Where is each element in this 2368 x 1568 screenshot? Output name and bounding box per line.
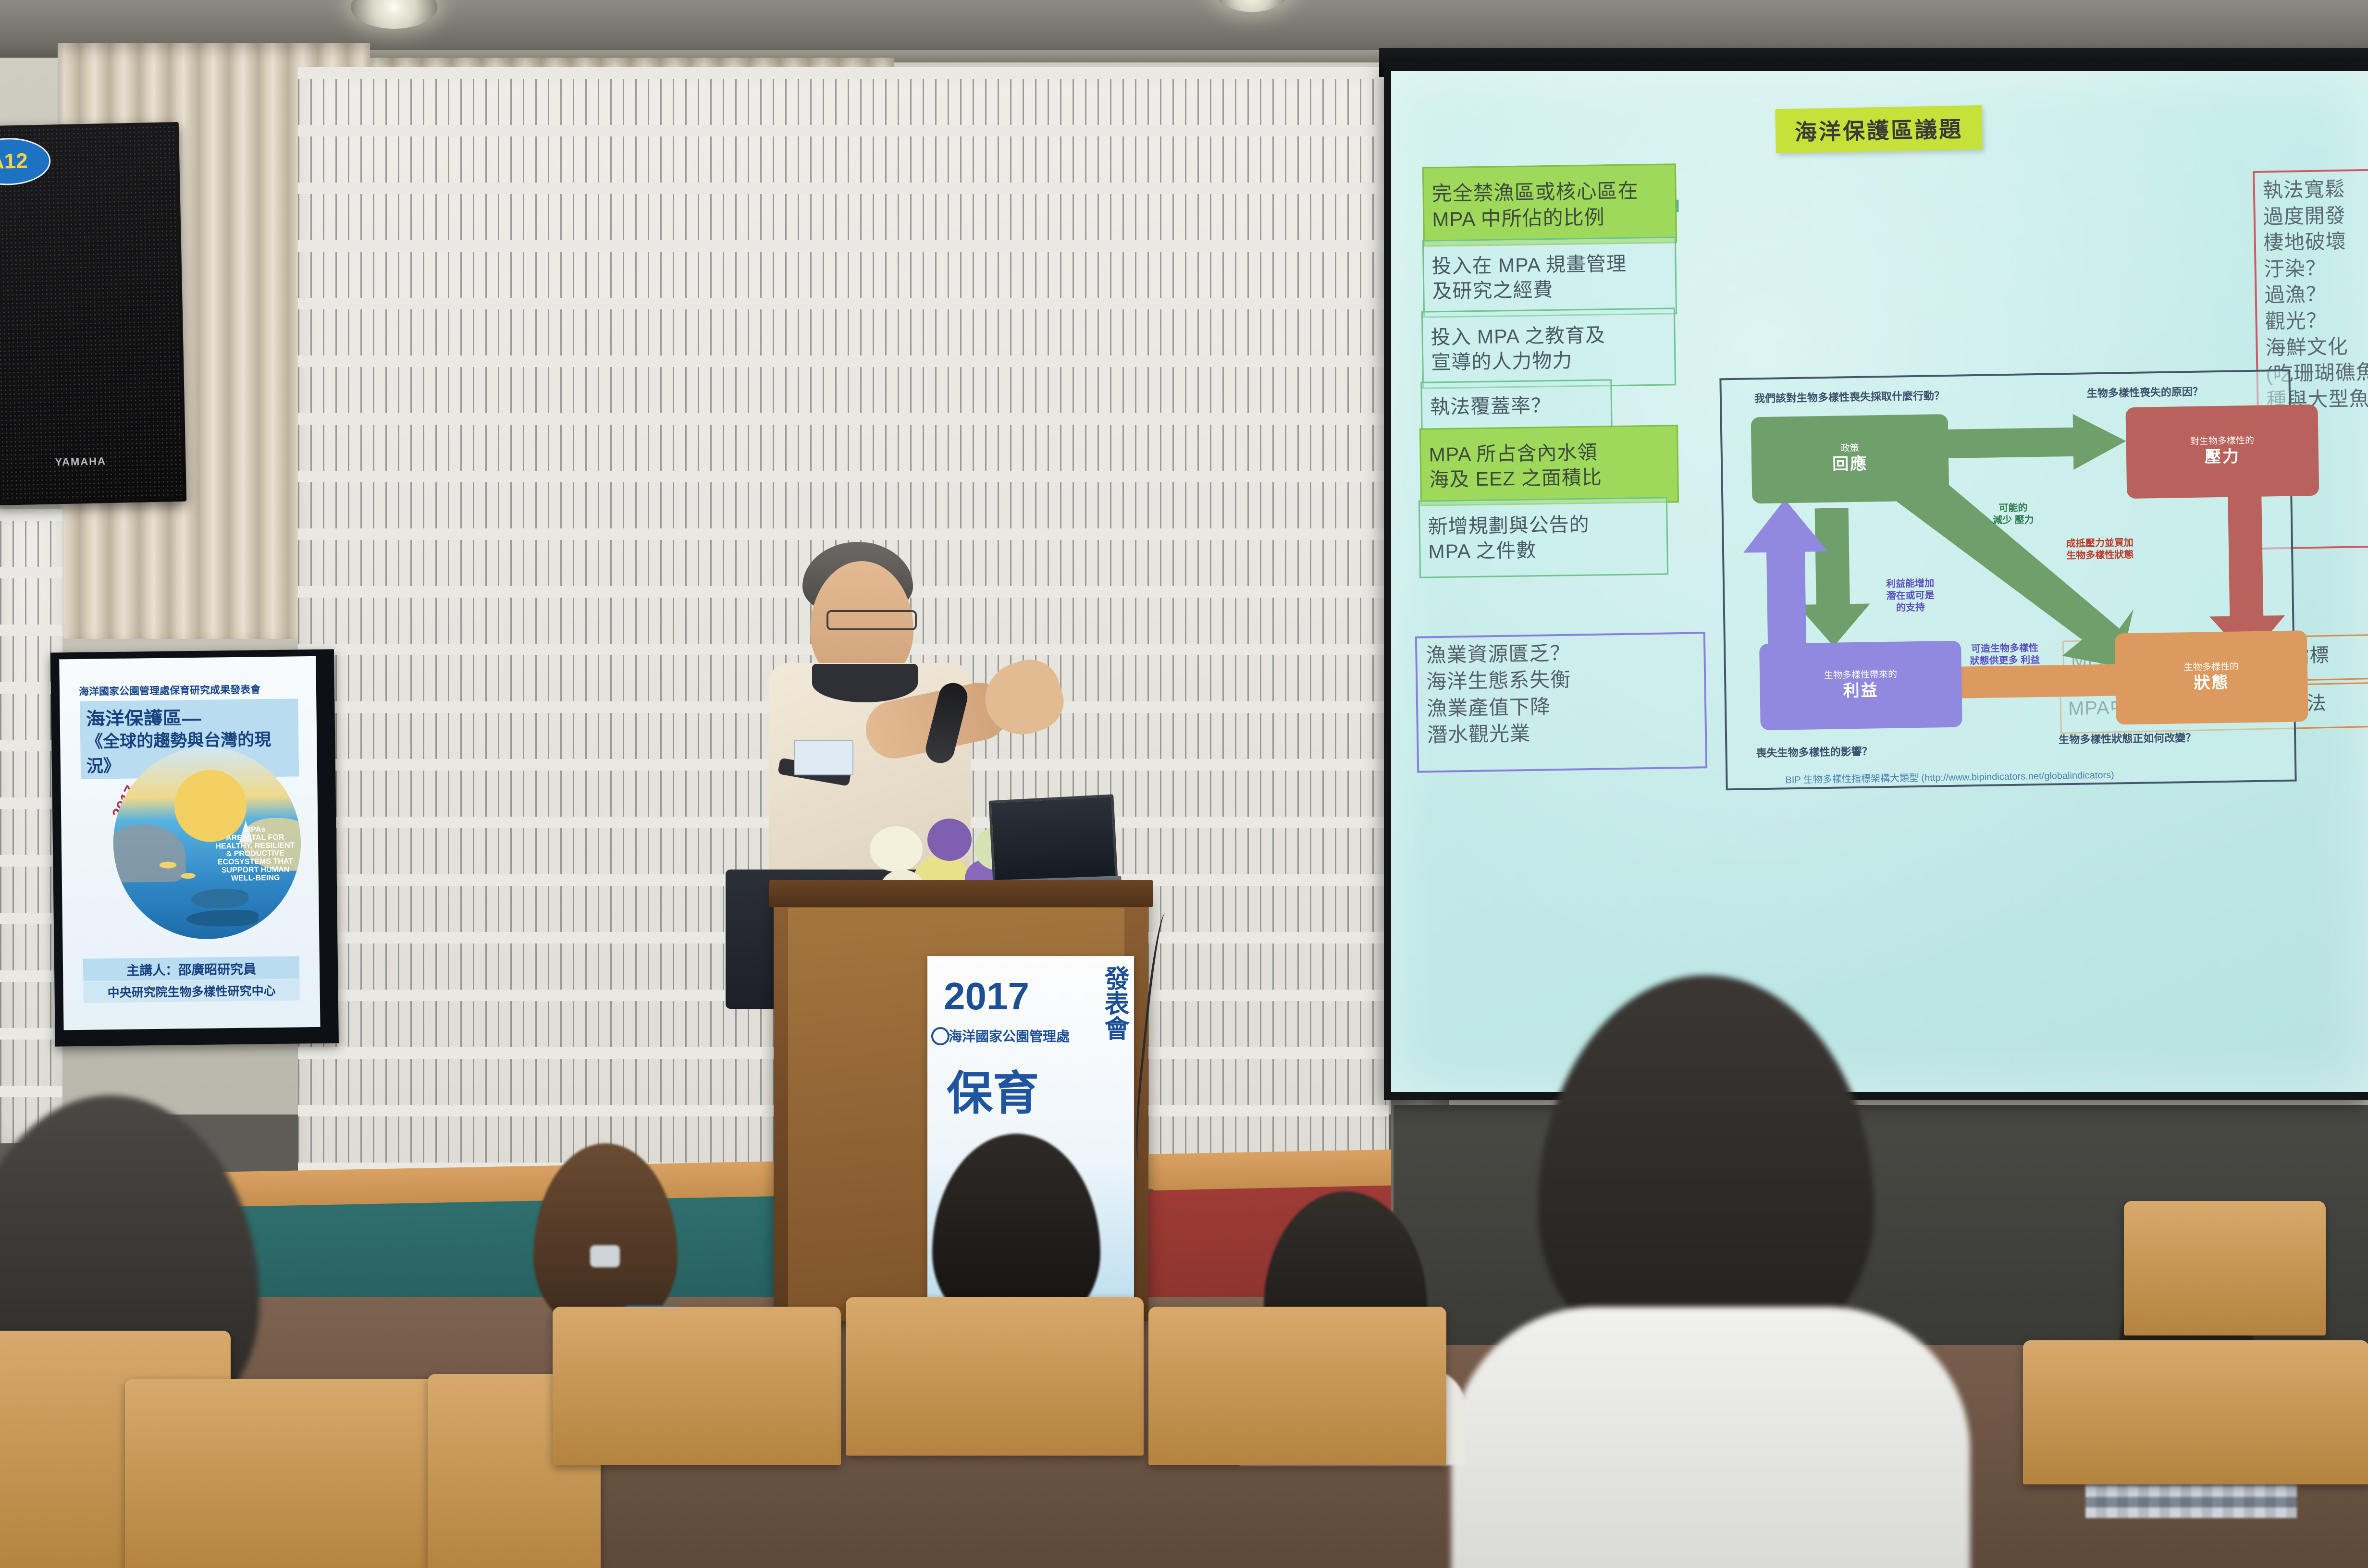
hair-clip — [590, 1245, 620, 1267]
laptop-screen — [988, 794, 1118, 887]
lecture-hall-photo: 海洋保護區議題 目前的 KPI 完全禁漁區或核心區在 MPA 中所佔的比例 投入… — [0, 0, 2368, 1568]
yamaha-logo: YAMAHA — [55, 455, 106, 468]
poster-globe-illustration: MPAs ARE VITAL FOR HEALTHY, RESILIENT & … — [112, 746, 302, 940]
poster-speaker-line: 主講人：邵廣昭研究員 — [83, 956, 300, 981]
presenter-collar — [812, 664, 918, 702]
presenter-glasses — [826, 610, 917, 630]
diagram-node-state: 生物多樣性的 狀態 — [2115, 630, 2308, 724]
audience-member-foreground-right — [1480, 975, 1941, 1568]
diagram-node-benefit: 生物多樣性帶來的 利益 — [1759, 641, 1962, 731]
arrow-label-more-benefit: 可造生物多樣性 狀態供更多 利益 — [1970, 642, 2040, 667]
flower-purple-1 — [927, 819, 972, 861]
globe-land-left — [112, 824, 185, 882]
globe-fish-2 — [181, 873, 196, 879]
projector-screen: 海洋保護區議題 目前的 KPI 完全禁漁區或核心區在 MPA 中所佔的比例 投入… — [1391, 71, 2368, 1092]
kpi-box-3: 投入 MPA 之教育及 宣導的人力物力 — [1421, 307, 1676, 389]
diagram-node-pressure: 對生物多樣性的 壓力 — [2125, 404, 2319, 499]
poster-inner: 海洋國家公園管理處保育研究成果發表會 海洋保護區— 《全球的趨勢與台灣的現況》 … — [59, 656, 320, 1030]
audience-shoulders-fg-right — [1451, 1307, 1970, 1568]
node-pressure-big: 壓力 — [2205, 447, 2241, 467]
biodiversity-cycle-diagram: 我們該對生物多樣性喪失採取什麼行動？ 生物多樣性喪失的原因？ 喪失生物多樣性的影… — [1719, 369, 2296, 791]
chair-row-mid-2[interactable] — [846, 1297, 1144, 1456]
kpi-box-4-text: 執法覆蓋率？ — [1430, 393, 1552, 420]
chair-row-front-2[interactable] — [125, 1379, 432, 1568]
kpi-box-4: 執法覆蓋率？ — [1420, 379, 1612, 433]
event-poster: 海洋國家公園管理處保育研究成果發表會 海洋保護區— 《全球的趨勢與台灣的現況》 … — [50, 649, 339, 1046]
diagram-caption-top-right: 生物多樣性喪失的原因？ — [2087, 383, 2203, 401]
diagram-caption-bottom-left: 喪失生物多樣性的影響？ — [1756, 743, 1872, 760]
podium-banner-main-word: 保育 — [947, 1056, 1039, 1123]
chair-row-mid-3[interactable] — [1148, 1307, 1446, 1465]
pa-speaker: A12 YAMAHA — [0, 122, 186, 505]
kpi-box-3-text: 投入 MPA 之教育及 宣導的人力物力 — [1431, 322, 1606, 375]
diagram-caption-bottom-right: 生物多樣性狀態正如何改變？ — [2059, 729, 2196, 747]
fishery-pressure-box: 漁業資源匱乏？ 海洋生態系失衡 漁業產值下降 潛水觀光業 — [1415, 632, 1707, 772]
node-response-big: 回應 — [1832, 454, 1868, 475]
podium-banner-year: 2017 — [944, 974, 1029, 1018]
slide-title: 海洋保護區議題 — [1775, 105, 1983, 153]
fishery-pressure-text: 漁業資源匱乏？ 海洋生態系失衡 漁業產值下降 潛水觀光業 — [1426, 642, 1571, 747]
diagram-caption-top-left: 我們該對生物多樣性喪失採取什麼行動？ — [1754, 387, 1945, 405]
audience-hair-fg-right — [1538, 975, 1874, 1355]
globe-whale — [191, 889, 248, 908]
yamaha-logo-text: YAMAHA — [55, 455, 106, 468]
globe-shark — [186, 909, 259, 927]
kpi-box-2-text: 投入在 MPA 規畫管理 及研究之經費 — [1431, 251, 1627, 304]
kpi-box-5-text: MPA 所占含內水領 海及 EEZ 之面積比 — [1429, 440, 1602, 492]
node-response-small: 政策 — [1840, 443, 1859, 454]
chair-row-back-right-2[interactable] — [2023, 1340, 2368, 1484]
kpi-box-1-text: 完全禁漁區或核心區在 MPA 中所佔的比例 — [1431, 178, 1639, 233]
chair-row-mid-1[interactable] — [553, 1307, 841, 1465]
kpi-box-2: 投入在 MPA 規畫管理 及研究之經費 — [1422, 236, 1677, 318]
diagram-source: BIP 生物多樣性指標架構大類型 (http://www.bipindicato… — [1785, 767, 2114, 786]
node-state-big: 狀態 — [2194, 673, 2230, 693]
node-benefit-big: 利益 — [1843, 681, 1879, 701]
presenter-badge — [794, 740, 853, 775]
audience-hair-ponytail — [533, 1143, 678, 1326]
chair-row-back-right-1[interactable] — [2124, 1201, 2326, 1335]
poster-header: 海洋國家公園管理處保育研究成果發表會 — [79, 682, 260, 698]
kpi-box-1: 完全禁漁區或核心區在 MPA 中所佔的比例 — [1422, 163, 1677, 246]
podium-banner-org: 海洋國家公園管理處 — [949, 1026, 1070, 1045]
arrow-label-increase-state: 成抵壓力並買加 生物多樣性狀態 — [2066, 537, 2134, 562]
kpi-box-5: MPA 所占含內水領 海及 EEZ 之面積比 — [1419, 425, 1679, 506]
arrow-label-benefit-support: 利益能增加 潛在或可是 的支持 — [1886, 577, 1935, 614]
node-state-small: 生物多樣性的 — [2184, 662, 2239, 674]
node-benefit-small: 生物多樣性帶來的 — [1824, 670, 1897, 682]
kpi-box-6-text: 新增規劃與公告的 MPA 之件數 — [1428, 512, 1590, 564]
node-pressure-small: 對生物多樣性的 — [2190, 436, 2254, 448]
podium-banner-vertical-text: 發表會 — [1097, 966, 1133, 1041]
arrow-label-reduce-pressure: 可能的 減少 壓力 — [1992, 502, 2034, 527]
podium-banner-logo-icon — [931, 1027, 950, 1045]
flower-white-1 — [870, 826, 923, 872]
poster-globe-text: MPAs ARE VITAL FOR HEALTHY, RESILIENT & … — [209, 825, 301, 883]
podium-top-surface — [769, 880, 1153, 907]
speaker-model-text: A12 — [0, 149, 28, 174]
diagram-node-response: 政策 回應 — [1751, 414, 1949, 503]
kpi-box-6: 新增規劃與公告的 MPA 之件數 — [1418, 497, 1668, 578]
poster-affiliation: 中央研究院生物多樣性研究中心 — [83, 979, 300, 1003]
